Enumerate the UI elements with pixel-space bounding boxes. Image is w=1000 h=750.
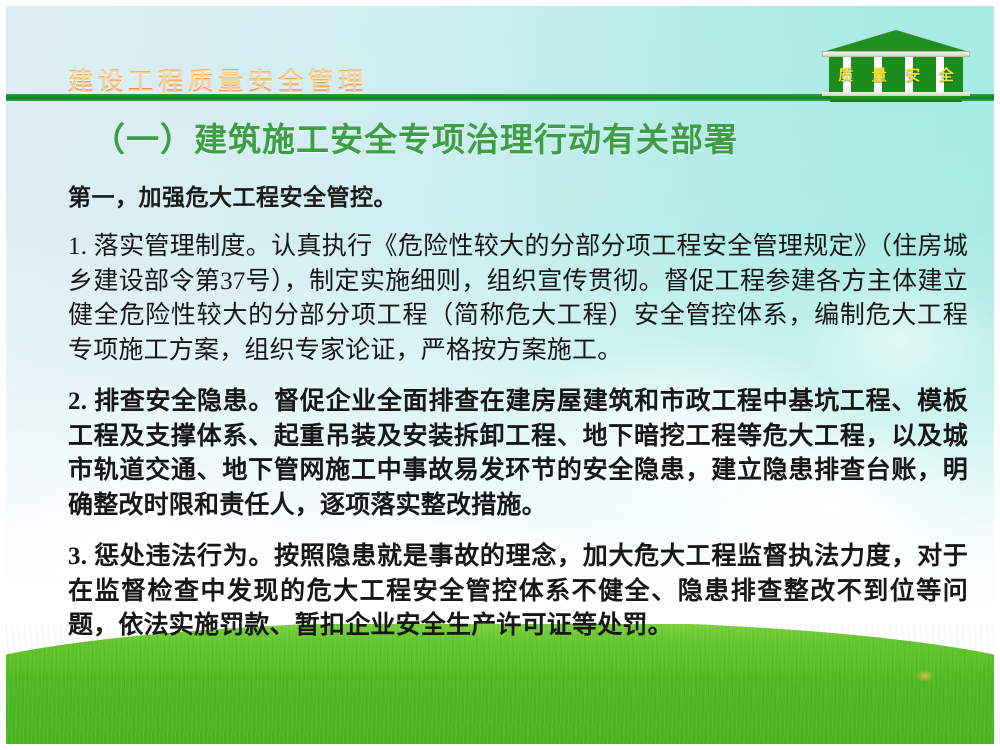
section-heading: （一）建筑施工安全专项治理行动有关部署	[62, 121, 968, 162]
logo-char-4: 全	[939, 64, 954, 85]
lead-statement: 第一，加强危大工程安全管控。	[68, 182, 968, 213]
body-paragraph-2: 2. 排查安全隐患。督促企业全面排查在建房屋建筑和市政工程中基坑工程、模板工程及…	[68, 385, 968, 523]
slide-header: 建设工程质量安全管理 质 量 安 全	[6, 6, 994, 98]
logo-char-3: 安	[905, 64, 920, 85]
logo-text: 质 量 安 全	[829, 57, 963, 92]
presentation-slide: 建设工程质量安全管理 质 量 安 全 （一）建筑施工安全专项治理行动有关部署 第…	[0, 0, 1000, 750]
flower-tuft-icon	[912, 668, 938, 684]
logo-char-1: 质	[838, 64, 853, 85]
quality-safety-temple-logo: 质 量 安 全	[820, 30, 972, 102]
temple-roof-icon	[826, 30, 966, 51]
grass-highlights	[6, 730, 994, 744]
body-paragraph-1: 1. 落实管理制度。认真执行《危险性较大的分部分项工程安全管理规定》（住房城乡建…	[68, 230, 968, 368]
body-paragraph-3: 3. 惩处违法行为。按照隐患就是事故的理念，加大危大工程监督执法力度，对于在监督…	[68, 540, 968, 644]
slide-content: （一）建筑施工安全专项治理行动有关部署 第一，加强危大工程安全管控。 1. 落实…	[6, 99, 994, 670]
header-title: 建设工程质量安全管理	[68, 62, 368, 98]
logo-char-2: 量	[872, 64, 887, 85]
